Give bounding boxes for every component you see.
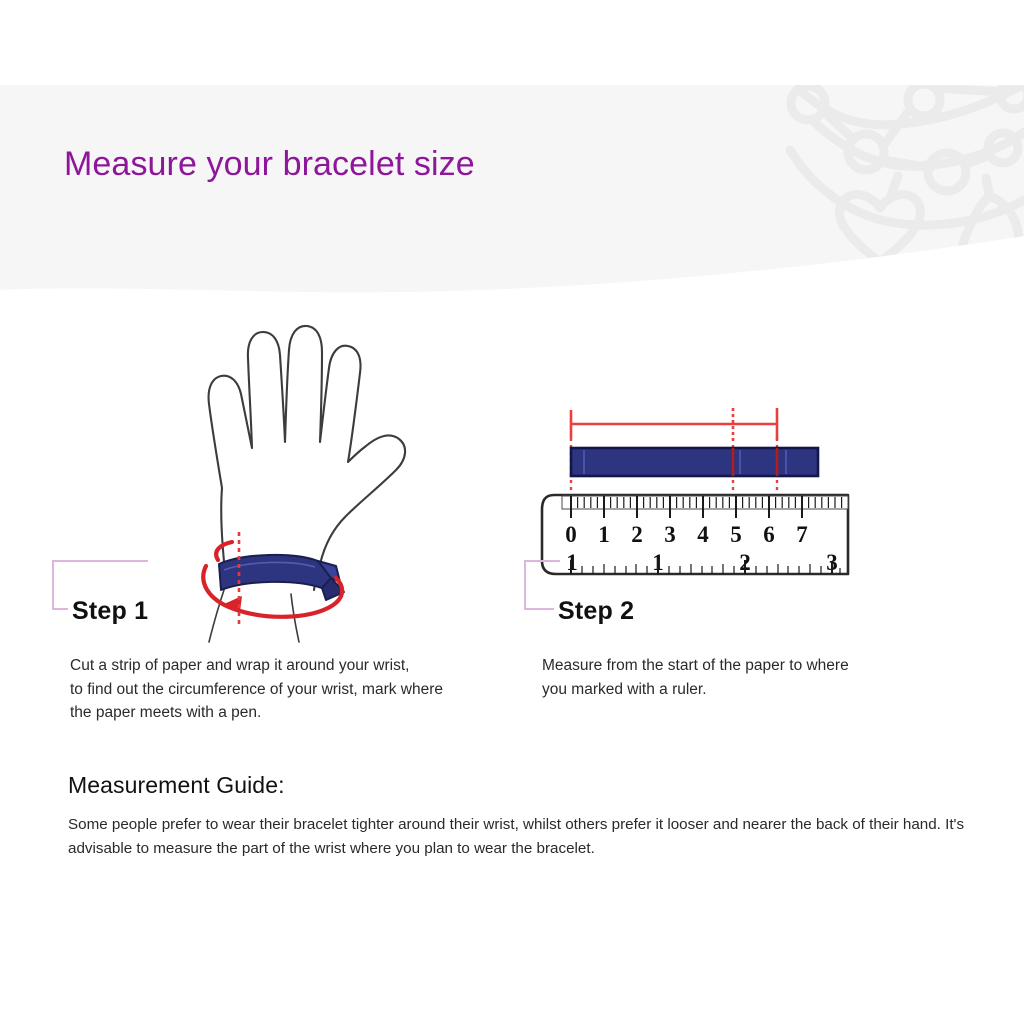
step-1-block: Step 1 Cut a strip of paper and wrap it …	[52, 558, 552, 725]
step-1-header: Step 1	[52, 558, 552, 620]
svg-text:5: 5	[730, 522, 742, 547]
measurement-guide-heading: Measurement Guide:	[68, 772, 978, 799]
svg-text:7: 7	[796, 522, 808, 547]
step-2-label: Step 2	[554, 597, 638, 626]
svg-text:6: 6	[763, 522, 775, 547]
step-2-header: Step 2	[524, 558, 964, 620]
svg-text:4: 4	[697, 522, 709, 547]
svg-text:0: 0	[565, 522, 577, 547]
step-2-block: Step 2 Measure from the start of the pap…	[524, 558, 964, 701]
step-2-body: Measure from the start of the paper to w…	[542, 654, 964, 701]
page-title: Measure your bracelet size	[64, 144, 475, 185]
paper-strip-icon	[571, 448, 818, 476]
step-1-label: Step 1	[68, 597, 152, 626]
svg-text:3: 3	[664, 522, 676, 547]
measurement-guide-paragraph: Some people prefer to wear their bracele…	[68, 813, 978, 860]
svg-text:2: 2	[631, 522, 643, 547]
svg-text:1: 1	[598, 522, 610, 547]
charm-bracelet-watermark-icon	[790, 81, 1024, 290]
measurement-guide-section: Measurement Guide: Some people prefer to…	[68, 772, 978, 860]
step-1-body: Cut a strip of paper and wrap it around …	[70, 654, 552, 725]
measurement-bracket-icon	[571, 408, 777, 440]
